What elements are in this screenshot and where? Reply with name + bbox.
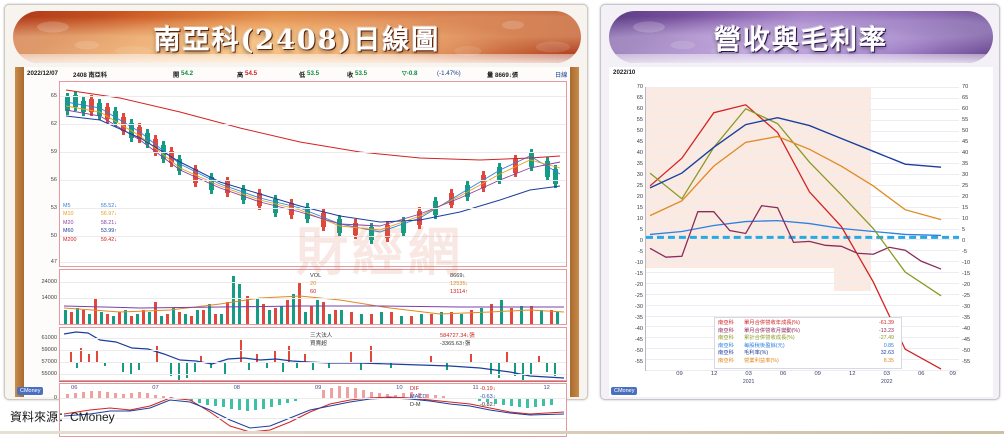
quote-open: 54.2 [181, 70, 193, 77]
r-y-tick-right: -30 [962, 304, 988, 310]
x-axis-rule [59, 381, 567, 382]
r-x-year: 2022 [881, 379, 893, 385]
r-y-tick: 10 [617, 216, 643, 222]
bottom-divider [0, 431, 1004, 434]
r-y-tick-right: -55 [962, 359, 988, 365]
cmoney-badge: CMoney [17, 387, 43, 395]
banner-gloss [13, 54, 581, 63]
price-axis-tick: 59 [27, 149, 57, 155]
vol-value: 8669↓ [450, 273, 465, 279]
r-x-tick: 09 [949, 371, 955, 377]
x-tick: 12 [543, 385, 549, 391]
r-y-tick-right: -15 [962, 271, 988, 277]
legend-row: 南亞科營業利益率(%)8.35 [718, 358, 898, 366]
legend-row: 南亞科累計合併營收成長(%)-27.49 [718, 335, 898, 343]
institutional-chart-subpanel: 61000 59000 57000 55000 [59, 327, 567, 381]
r-y-tick-right: 45 [962, 139, 988, 145]
r-y-tick: 40 [617, 150, 643, 156]
chip-axis-tick: 55000 [27, 371, 57, 377]
r-y-tick-right: 35 [962, 161, 988, 167]
institutional-value-1: 584727.34↓張 [440, 331, 475, 339]
legend-company: 南亞科 [718, 320, 744, 328]
quote-volume-label: 量 [487, 70, 493, 79]
legend-value: -61.39 [862, 320, 894, 328]
r-y-tick-right: 10 [962, 216, 988, 222]
r-y-tick: 25 [617, 183, 643, 189]
ma-legend-value: 58.21↓ [83, 219, 117, 227]
cmoney-badge: CMoney [611, 387, 637, 395]
r-y-tick: 20 [617, 194, 643, 200]
quote-volume: 8669↓張 [495, 70, 518, 79]
r-y-tick-right: 55 [962, 117, 988, 123]
r-y-tick-right: 30 [962, 172, 988, 178]
r-y-tick: 70 [617, 84, 643, 90]
x-tick: 10 [396, 385, 402, 391]
ma-legend-value: 55.52↓ [83, 202, 117, 210]
price-axis-tick: 47 [27, 259, 57, 265]
macd-dm-label: D-M [410, 402, 421, 408]
x-tick: 07 [152, 385, 158, 391]
legend-company: 南亞科 [718, 358, 744, 366]
r-y-tick-right: -50 [962, 348, 988, 354]
r-y-tick: 45 [617, 139, 643, 145]
r-y-tick-right: -35 [962, 315, 988, 321]
quote-symbol: 2408 南亞科 [73, 70, 107, 79]
institutional-title-2: 買賣超 [310, 339, 327, 347]
x-tick: 08 [234, 385, 240, 391]
quote-change: ▽-0.8 [402, 70, 417, 77]
ma-legend-label: M5 [63, 202, 83, 210]
legend-name: 累計合併營收成長(%) [744, 335, 862, 343]
ma-legend-row: M1056.97↓ [63, 210, 117, 218]
r-y-tick-right: 0 [962, 238, 988, 244]
r-x-tick: 06 [918, 371, 924, 377]
legend-company: 南亞科 [718, 350, 744, 358]
r-y-tick-right: -20 [962, 282, 988, 288]
x-tick: 06 [71, 385, 77, 391]
ma-legend-label: M10 [63, 210, 83, 218]
legend-name: 單月合併營收年成長(%) [744, 320, 862, 328]
left-banner: 南亞科(2408)日線圖 [13, 11, 581, 63]
r-y-tick-right: -40 [962, 326, 988, 332]
vol-title: VOL [310, 273, 321, 279]
chip-axis-tick: 61000 [27, 335, 57, 341]
r-x-tick: 09 [814, 371, 820, 377]
ma-legend-value: 53.99↑ [83, 227, 117, 235]
r-y-tick: -50 [617, 348, 643, 354]
banner-gloss [609, 54, 993, 63]
vol-axis-tick: 24000 [27, 279, 57, 285]
r-y-tick: 55 [617, 117, 643, 123]
r-y-tick: 15 [617, 205, 643, 211]
r-y-tick: -15 [617, 271, 643, 277]
legend-value: 0.85 [862, 343, 894, 351]
left-chart-body: 2022/12/07 2408 南亞科 開 54.2 高 54.5 低 53.5… [15, 67, 579, 397]
r-y-tick-right: -10 [962, 260, 988, 266]
r-y-tick: -5 [617, 249, 643, 255]
quote-header: 2022/12/07 2408 南亞科 開 54.2 高 54.5 低 53.5… [27, 67, 567, 81]
quote-low: 53.5 [307, 70, 319, 77]
quote-high: 54.5 [245, 70, 257, 77]
r-x-tick: 09 [676, 371, 682, 377]
r-y-tick-right: 70 [962, 84, 988, 90]
ma-legend-row: M555.52↓ [63, 202, 117, 210]
chart-left-rail [15, 67, 24, 397]
ma-legend-label: M60 [63, 227, 83, 235]
legend-company: 南亞科 [718, 335, 744, 343]
chip-axis-tick: 59000 [27, 347, 57, 353]
source-footer: 資料來源：CMoney [10, 408, 115, 425]
ma-legend-row: M20059.42↓ [63, 236, 117, 244]
vol-axis-tick: 14000 [27, 295, 57, 301]
price-axis-tick: 53 [27, 205, 57, 211]
right-chart-body: 2022/10 70 65 60 55 50 45 40 35 [609, 67, 993, 397]
ma-legend-row: M2058.21↓ [63, 219, 117, 227]
price-axis-tick: 50 [27, 233, 57, 239]
legend-name: 營業利益率(%) [744, 358, 862, 366]
quote-date: 2022/12/07 [27, 70, 58, 77]
institutional-title-1: 三大法人 [310, 331, 332, 339]
r-y-tick: 65 [617, 95, 643, 101]
right-banner: 營收與毛利率 [609, 11, 993, 63]
r-y-tick: -45 [617, 337, 643, 343]
r-y-tick-right: 25 [962, 183, 988, 189]
quote-period: 日線 [555, 70, 567, 79]
macd-axis-tick: 0 [27, 395, 57, 401]
x-tick: 11 [473, 385, 479, 391]
r-y-tick-right: 5 [962, 227, 988, 233]
r-y-tick-right: 40 [962, 150, 988, 156]
revenue-margin-plot: 70 65 60 55 50 45 40 35 30 25 20 15 10 5… [645, 87, 959, 371]
quote-low-label: 低 [299, 70, 305, 79]
r-y-tick-right: 15 [962, 205, 988, 211]
r-y-tick: 50 [617, 128, 643, 134]
r-y-tick: 60 [617, 106, 643, 112]
r-y-tick: -10 [617, 260, 643, 266]
x-tick: 09 [315, 385, 321, 391]
vol-ma60-value: 13114↑ [450, 289, 468, 295]
r-y-tick: 35 [617, 161, 643, 167]
r-y-tick: -35 [617, 315, 643, 321]
r-y-tick-right: 65 [962, 95, 988, 101]
candlestick-series [60, 82, 568, 266]
r-y-tick-right: 60 [962, 106, 988, 112]
r-y-tick: -40 [617, 326, 643, 332]
institutional-value-2: -3365.63↑張 [440, 339, 470, 347]
ma-legend-label: M20 [63, 219, 83, 227]
chip-axis-tick: 57000 [27, 359, 57, 365]
r-x-tick: 06 [780, 371, 786, 377]
ma-legend: M555.52↓ M1056.97↓ M2058.21↓ M6053.99↑ M… [63, 202, 117, 244]
r-x-tick: 12 [849, 371, 855, 377]
price-chart-subpanel: 65 62 59 56 53 50 47 [59, 81, 567, 267]
r-y-tick: -20 [617, 282, 643, 288]
r-y-tick: -55 [617, 359, 643, 365]
vol-ma20-label: 20 [310, 281, 316, 287]
macd-dm-value: -0.82↓ [480, 402, 496, 408]
legend-row: 南亞科單月合併營收年成長(%)-61.39 [718, 320, 898, 328]
legend-name: 毛利率(%) [744, 350, 862, 358]
legend-row: 南亞科毛利率(%)32.63 [718, 350, 898, 358]
r-y-tick: 5 [617, 227, 643, 233]
vol-ma60-label: 60 [310, 289, 316, 295]
volume-chart-subpanel: 24000 14000 [59, 269, 567, 325]
legend-value: -27.49 [862, 335, 894, 343]
quote-close: 53.5 [355, 70, 367, 77]
revenue-margin-legend: 南亞科單月合併營收年成長(%)-61.39 南亞科單月合併營收月變動(%)-13… [714, 317, 902, 369]
r-x-tick: 12 [711, 371, 717, 377]
vol-ma20-value: 12535↓ [450, 281, 468, 287]
left-x-axis: 06 07 08 09 10 11 12 [59, 381, 567, 395]
right-chart-panel: 營收與毛利率 2022/10 70 65 60 55 50 [600, 4, 1000, 400]
r-y-tick-right: 50 [962, 128, 988, 134]
r-y-tick: -30 [617, 304, 643, 310]
right-date-label: 2022/10 [613, 69, 635, 76]
chart-right-rail [570, 67, 579, 397]
legend-value: -13.23 [862, 328, 894, 336]
quote-open-label: 開 [173, 70, 179, 79]
quote-high-label: 高 [237, 70, 243, 79]
left-chart-panel: 南亞科(2408)日線圖 2022/12/07 2408 南亞科 開 54.2 … [4, 4, 588, 400]
price-axis-tick: 62 [27, 121, 57, 127]
r-x-tick: 03 [745, 371, 751, 377]
r-y-tick: 30 [617, 172, 643, 178]
legend-value: 32.63 [862, 350, 894, 358]
r-y-tick-right: -45 [962, 337, 988, 343]
r-y-tick-right: 20 [962, 194, 988, 200]
r-y-tick: 0 [617, 238, 643, 244]
ma-legend-value: 59.42↓ [83, 236, 117, 244]
r-y-tick: -25 [617, 293, 643, 299]
r-x-tick: 03 [884, 371, 890, 377]
legend-value: 8.35 [862, 358, 894, 366]
r-y-tick-right: -5 [962, 249, 988, 255]
r-y-tick-right: -25 [962, 293, 988, 299]
r-x-year: 2021 [743, 379, 755, 385]
price-axis-tick: 65 [27, 93, 57, 99]
quote-change-pct: (-1.47%) [437, 70, 461, 77]
ma-legend-label: M200 [63, 236, 83, 244]
ma-legend-value: 56.97↓ [83, 210, 117, 218]
right-x-axis: 09 12 03 2021 06 09 12 03 2022 06 09 [645, 371, 959, 393]
price-axis-tick: 56 [27, 177, 57, 183]
quote-close-label: 收 [347, 70, 353, 79]
ma-legend-row: M6053.99↑ [63, 227, 117, 235]
